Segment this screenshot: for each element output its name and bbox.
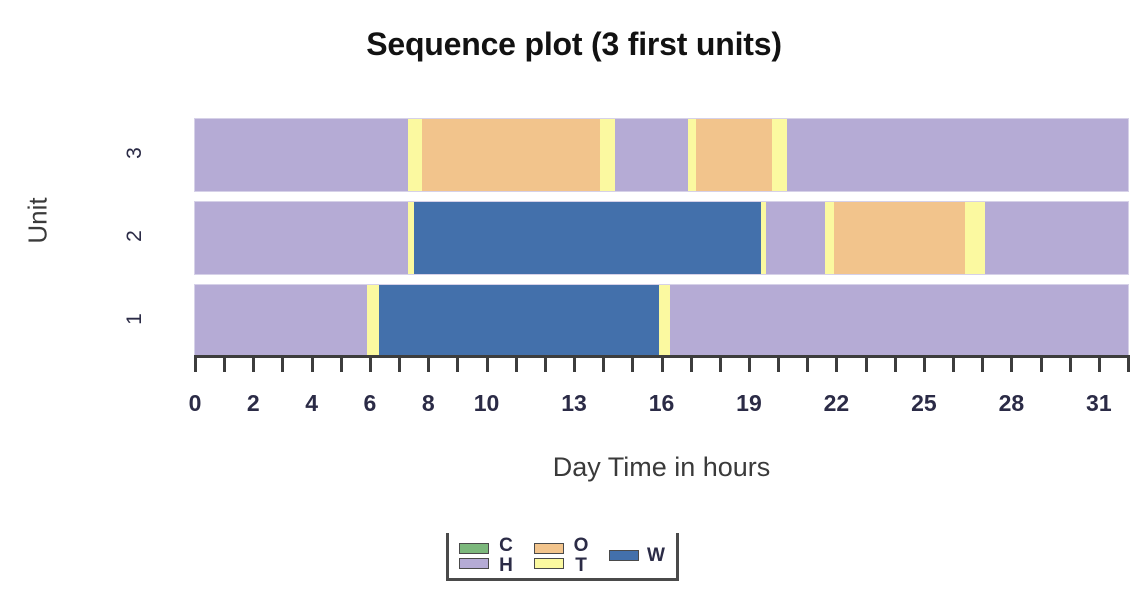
segment-t <box>600 119 615 191</box>
segment-t <box>367 285 379 357</box>
legend-label-h: H <box>496 556 516 575</box>
legend-swatches <box>609 550 639 561</box>
x-tick <box>835 355 838 372</box>
segment-t <box>825 202 834 274</box>
segment-t <box>688 119 697 191</box>
legend-group-2: OT <box>534 536 591 575</box>
sequence-row-unit-3 <box>195 119 1128 191</box>
x-tick-label-16: 16 <box>627 390 697 417</box>
segment-t <box>408 119 423 191</box>
x-tick <box>661 355 664 372</box>
legend-swatch-w <box>609 550 639 561</box>
sequence-plot: Sequence plot (3 first units) Unit 123 0… <box>0 0 1148 614</box>
legend-swatches <box>534 543 564 569</box>
x-tick <box>1098 355 1101 372</box>
x-tick <box>981 355 984 372</box>
segment-h <box>787 119 1128 191</box>
x-tick <box>777 355 780 372</box>
x-tick-label-25: 25 <box>889 390 959 417</box>
y-tick-label-3: 3 <box>123 123 147 183</box>
x-tick <box>281 355 284 372</box>
segment-h <box>670 285 1128 357</box>
sequence-row-unit-2 <box>195 202 1128 274</box>
legend-swatch-h <box>459 558 489 569</box>
segment-w <box>379 285 659 357</box>
x-tick <box>719 355 722 372</box>
legend-labels: W <box>646 546 666 565</box>
x-tick <box>515 355 518 372</box>
legend-labels: OT <box>571 536 591 575</box>
x-tick <box>369 355 372 372</box>
x-tick <box>194 355 197 372</box>
x-tick <box>602 355 605 372</box>
segment-w <box>414 202 761 274</box>
sequence-row-unit-1 <box>195 285 1128 357</box>
x-tick <box>631 355 634 372</box>
segment-h <box>615 119 688 191</box>
x-tick <box>923 355 926 372</box>
x-tick-label-19: 19 <box>714 390 784 417</box>
legend-swatches <box>459 543 489 569</box>
x-tick <box>894 355 897 372</box>
x-tick <box>427 355 430 372</box>
x-tick <box>806 355 809 372</box>
legend-group-1: CH <box>459 536 516 575</box>
legend-swatch-c <box>459 543 489 554</box>
legend-label-t: T <box>571 556 591 575</box>
segment-h <box>195 119 408 191</box>
legend-label-c: C <box>496 536 516 555</box>
segment-t <box>772 119 787 191</box>
legend-swatch-t <box>534 558 564 569</box>
x-tick <box>486 355 489 372</box>
x-tick-label-22: 22 <box>801 390 871 417</box>
x-tick <box>690 355 693 372</box>
x-tick <box>456 355 459 372</box>
x-tick <box>223 355 226 372</box>
legend-label-w: W <box>646 546 666 565</box>
x-tick <box>952 355 955 372</box>
segment-t <box>965 202 985 274</box>
segment-h <box>195 202 408 274</box>
x-tick <box>1010 355 1013 372</box>
legend: CHOTW <box>446 533 679 581</box>
x-tick <box>544 355 547 372</box>
x-tick <box>252 355 255 372</box>
segment-o <box>422 119 600 191</box>
legend-swatch-o <box>534 543 564 554</box>
segment-h <box>766 202 824 274</box>
segment-h <box>195 285 367 357</box>
y-tick-label-1: 1 <box>123 289 147 349</box>
page-title: Sequence plot (3 first units) <box>0 26 1148 63</box>
x-tick-label-10: 10 <box>452 390 522 417</box>
segment-t <box>659 285 671 357</box>
x-tick-label-13: 13 <box>539 390 609 417</box>
x-tick <box>1127 355 1130 372</box>
x-tick <box>748 355 751 372</box>
x-axis-label: Day Time in hours <box>195 452 1128 483</box>
x-tick <box>865 355 868 372</box>
y-tick-label-2: 2 <box>123 206 147 266</box>
legend-label-o: O <box>571 536 591 555</box>
legend-labels: CH <box>496 536 516 575</box>
segment-h <box>985 202 1128 274</box>
x-tick <box>573 355 576 372</box>
x-tick <box>311 355 314 372</box>
legend-group-3: W <box>609 546 666 565</box>
x-tick-label-28: 28 <box>976 390 1046 417</box>
y-axis-label: Unit <box>23 161 54 281</box>
x-tick <box>398 355 401 372</box>
segment-o <box>696 119 772 191</box>
x-tick <box>1040 355 1043 372</box>
x-tick <box>340 355 343 372</box>
segment-o <box>834 202 965 274</box>
x-tick <box>1069 355 1072 372</box>
x-tick-label-31: 31 <box>1064 390 1134 417</box>
